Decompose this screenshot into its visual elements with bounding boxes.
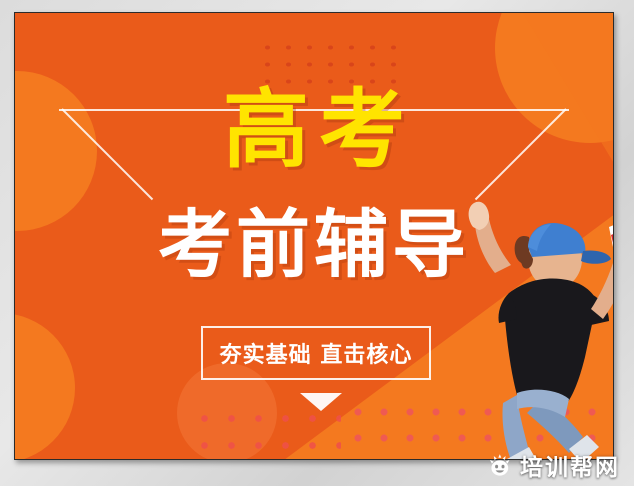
poster-banner: 高考 考前辅导 夯实基础 直击核心 xyxy=(14,12,614,460)
frame-line-top xyxy=(59,109,569,111)
watermark-text: 培训帮网 xyxy=(520,448,620,482)
dot-grid-top xyxy=(257,39,407,85)
dot-grid-bottom-left xyxy=(191,405,341,455)
books xyxy=(609,215,614,253)
jumping-student-illustration xyxy=(433,181,614,460)
sun-face-icon xyxy=(487,452,513,478)
watermark: 培训帮网 xyxy=(481,446,628,484)
